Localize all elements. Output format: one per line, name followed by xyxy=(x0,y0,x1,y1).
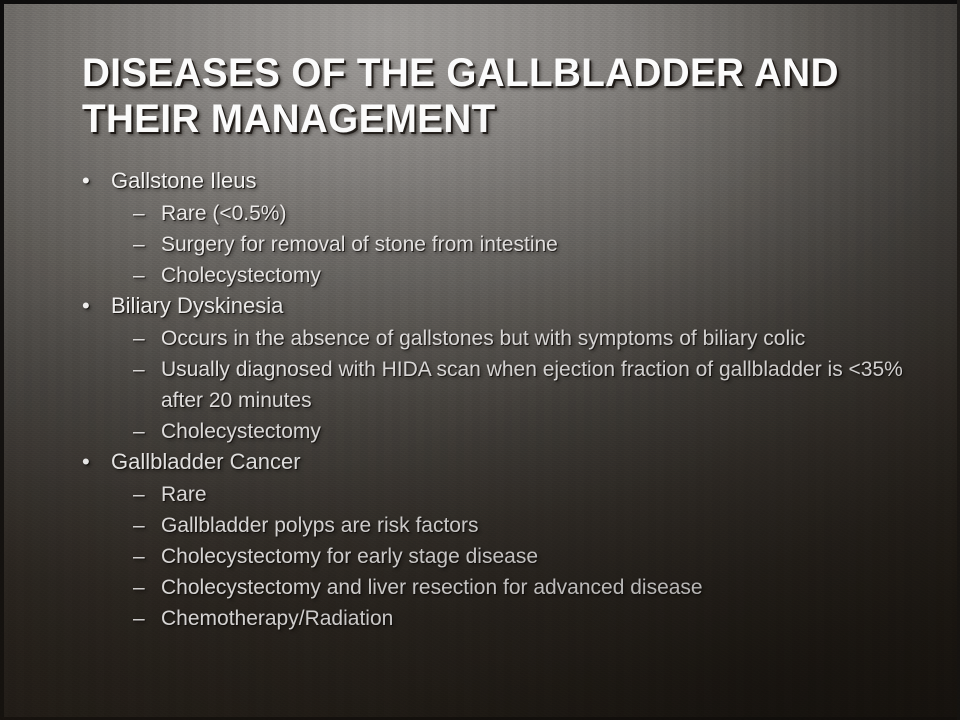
bullet-dash-icon: – xyxy=(133,603,151,634)
bullet-level1-label: Gallbladder Cancer xyxy=(111,449,301,474)
bullet-dot-icon: • xyxy=(82,166,96,196)
bullet-level2-label: Surgery for removal of stone from intest… xyxy=(161,229,920,260)
bullet-dot-icon: • xyxy=(82,447,96,477)
bullet-group: •Biliary Dyskinesia–Occurs in the absenc… xyxy=(0,291,960,447)
bullet-dash-icon: – xyxy=(133,354,151,385)
bullet-level2: –Surgery for removal of stone from intes… xyxy=(0,229,960,260)
bullet-level2-label: Cholecystectomy and liver resection for … xyxy=(161,572,920,603)
bullet-level2: –Rare xyxy=(0,479,960,510)
bullet-level1-label: Gallstone Ileus xyxy=(111,168,257,193)
bullet-level1: •Biliary Dyskinesia xyxy=(0,291,960,323)
bullet-level2: –Gallbladder polyps are risk factors xyxy=(0,510,960,541)
bullet-dash-icon: – xyxy=(133,416,151,447)
bullet-dash-icon: – xyxy=(133,260,151,291)
bullet-dash-icon: – xyxy=(133,572,151,603)
bullet-list: •Gallstone Ileus–Rare (<0.5%)–Surgery fo… xyxy=(0,166,960,634)
bullet-level2: –Usually diagnosed with HIDA scan when e… xyxy=(0,354,960,416)
bullet-level2: –Cholecystectomy and liver resection for… xyxy=(0,572,960,603)
bullet-dash-icon: – xyxy=(133,479,151,510)
bullet-dash-icon: – xyxy=(133,541,151,572)
bullet-level2-label: Cholecystectomy for early stage disease xyxy=(161,541,920,572)
bullet-level2: –Cholecystectomy xyxy=(0,260,960,291)
bullet-level2-label: Occurs in the absence of gallstones but … xyxy=(161,323,920,354)
bullet-level2-label: Gallbladder polyps are risk factors xyxy=(161,510,920,541)
bullet-level1-label: Biliary Dyskinesia xyxy=(111,293,283,318)
bullet-level2-label: Usually diagnosed with HIDA scan when ej… xyxy=(161,354,920,416)
bullet-level1: •Gallstone Ileus xyxy=(0,166,960,198)
bullet-level2-label: Chemotherapy/Radiation xyxy=(161,603,920,634)
bullet-level2-label: Rare xyxy=(161,479,920,510)
bullet-level2: –Cholecystectomy for early stage disease xyxy=(0,541,960,572)
slide-content: Diseases of the Gallbladder and Their Ma… xyxy=(0,0,960,720)
bullet-level2-label: Cholecystectomy xyxy=(161,260,920,291)
bullet-dash-icon: – xyxy=(133,229,151,260)
bullet-level2: –Cholecystectomy xyxy=(0,416,960,447)
bullet-level1: •Gallbladder Cancer xyxy=(0,447,960,479)
bullet-group: •Gallstone Ileus–Rare (<0.5%)–Surgery fo… xyxy=(0,166,960,291)
presentation-slide: Diseases of the Gallbladder and Their Ma… xyxy=(0,0,960,720)
bullet-level2-label: Rare (<0.5%) xyxy=(161,198,920,229)
bullet-dash-icon: – xyxy=(133,323,151,354)
bullet-level2: –Rare (<0.5%) xyxy=(0,198,960,229)
bullet-dash-icon: – xyxy=(133,198,151,229)
bullet-dot-icon: • xyxy=(82,291,96,321)
bullet-level2: –Occurs in the absence of gallstones but… xyxy=(0,323,960,354)
bullet-level2: –Chemotherapy/Radiation xyxy=(0,603,960,634)
bullet-level2-label: Cholecystectomy xyxy=(161,416,920,447)
slide-title: Diseases of the Gallbladder and Their Ma… xyxy=(82,50,883,142)
bullet-dash-icon: – xyxy=(133,510,151,541)
bullet-group: •Gallbladder Cancer–Rare–Gallbladder pol… xyxy=(0,447,960,634)
